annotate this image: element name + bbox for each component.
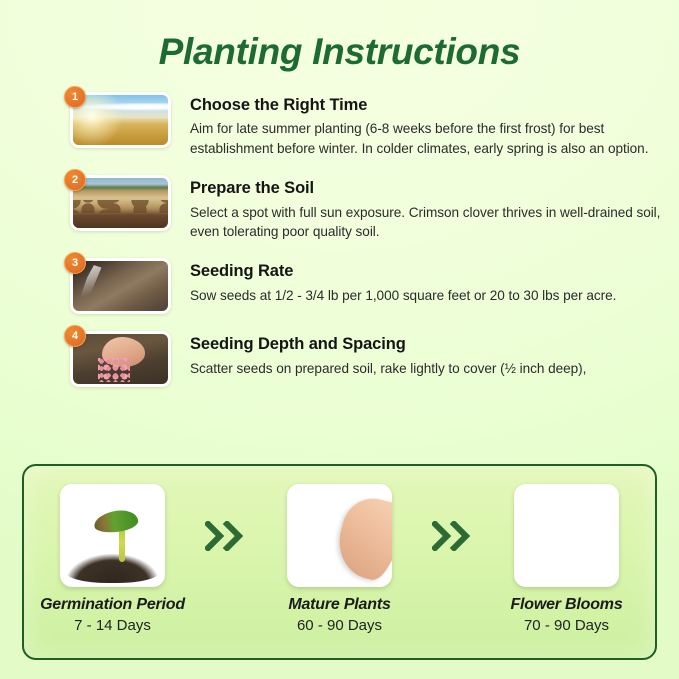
step-item-2: 2 Prepare the Soil Select a spot with fu… — [70, 175, 670, 241]
step-heading-1: Choose the Right Time — [190, 96, 670, 115]
timeline-stage-flower-blooms: Flower Blooms 70 - 90 Days — [484, 484, 649, 634]
step-description-4: Scatter seeds on prepared soil, rake lig… — [190, 359, 670, 378]
steps-list: 1 Choose the Right Time Aim for late sum… — [70, 92, 670, 404]
step-item-4: 4 Seeding Depth and Spacing Scatter seed… — [70, 331, 670, 387]
step-item-1: 1 Choose the Right Time Aim for late sum… — [70, 92, 670, 158]
hand-tool-in-soil-image — [73, 261, 168, 311]
growth-timeline-row: Germination Period 7 - 14 Days Mature Pl… — [24, 466, 655, 658]
timeline-label-mature-plants: Mature Plants — [257, 596, 422, 614]
hand-scattering-seeds-image — [73, 334, 168, 384]
step-description-3: Sow seeds at 1/2 - 3/4 lb per 1,000 squa… — [190, 286, 670, 305]
sprouting-seed-photo — [60, 484, 165, 587]
timeline-value-flower-blooms: 70 - 90 Days — [484, 617, 649, 634]
step-number-badge-3: 3 — [64, 252, 86, 274]
step-heading-4: Seeding Depth and Spacing — [190, 335, 670, 354]
timeline-label-flower-blooms: Flower Blooms — [484, 596, 649, 614]
step-heading-2: Prepare the Soil — [190, 179, 670, 198]
timeline-value-mature-plants: 60 - 90 Days — [257, 617, 422, 634]
step-description-2: Select a spot with full sun exposure. Cr… — [190, 203, 670, 242]
soil-mound-shape — [66, 554, 158, 583]
crimson-clover-blooms-photo — [514, 484, 619, 587]
timeline-label-germination: Germination Period — [30, 596, 195, 614]
clover-leaves-with-hand-photo — [287, 484, 392, 587]
timeline-stage-germination: Germination Period 7 - 14 Days — [30, 484, 195, 634]
step-number-badge-2: 2 — [64, 169, 86, 191]
timeline-value-germination: 7 - 14 Days — [30, 617, 195, 634]
double-chevron-right-icon — [195, 484, 257, 587]
step-number-badge-1: 1 — [64, 86, 86, 108]
step-item-3: 3 Seeding Rate Sow seeds at 1/2 - 3/4 lb… — [70, 258, 670, 314]
step-number-badge-4: 4 — [64, 325, 86, 347]
planting-instructions-infographic: Planting Instructions 1 Choose the Right… — [0, 0, 679, 679]
step-thumbnail-wrap-3: 3 — [70, 258, 180, 314]
step-thumbnail-wrap-2: 2 — [70, 175, 180, 231]
step-body-2: Prepare the Soil Select a spot with full… — [180, 175, 670, 241]
step-thumbnail-wrap-4: 4 — [70, 331, 180, 387]
growth-timeline-card: Germination Period 7 - 14 Days Mature Pl… — [22, 464, 657, 660]
step-heading-3: Seeding Rate — [190, 262, 670, 281]
step-thumbnail-wrap-1: 1 — [70, 92, 180, 148]
step-body-1: Choose the Right Time Aim for late summe… — [180, 92, 670, 158]
wheat-field-sunrise-image — [73, 95, 168, 145]
double-chevron-right-icon-2 — [422, 484, 484, 587]
timeline-stage-mature-plants: Mature Plants 60 - 90 Days — [257, 484, 422, 634]
step-body-4: Seeding Depth and Spacing Scatter seeds … — [180, 331, 670, 378]
step-description-1: Aim for late summer planting (6-8 weeks … — [190, 119, 670, 158]
step-body-3: Seeding Rate Sow seeds at 1/2 - 3/4 lb p… — [180, 258, 670, 305]
plowed-farmland-image — [73, 178, 168, 228]
page-title: Planting Instructions — [0, 31, 679, 73]
sprout-leaf-shape — [92, 508, 139, 535]
